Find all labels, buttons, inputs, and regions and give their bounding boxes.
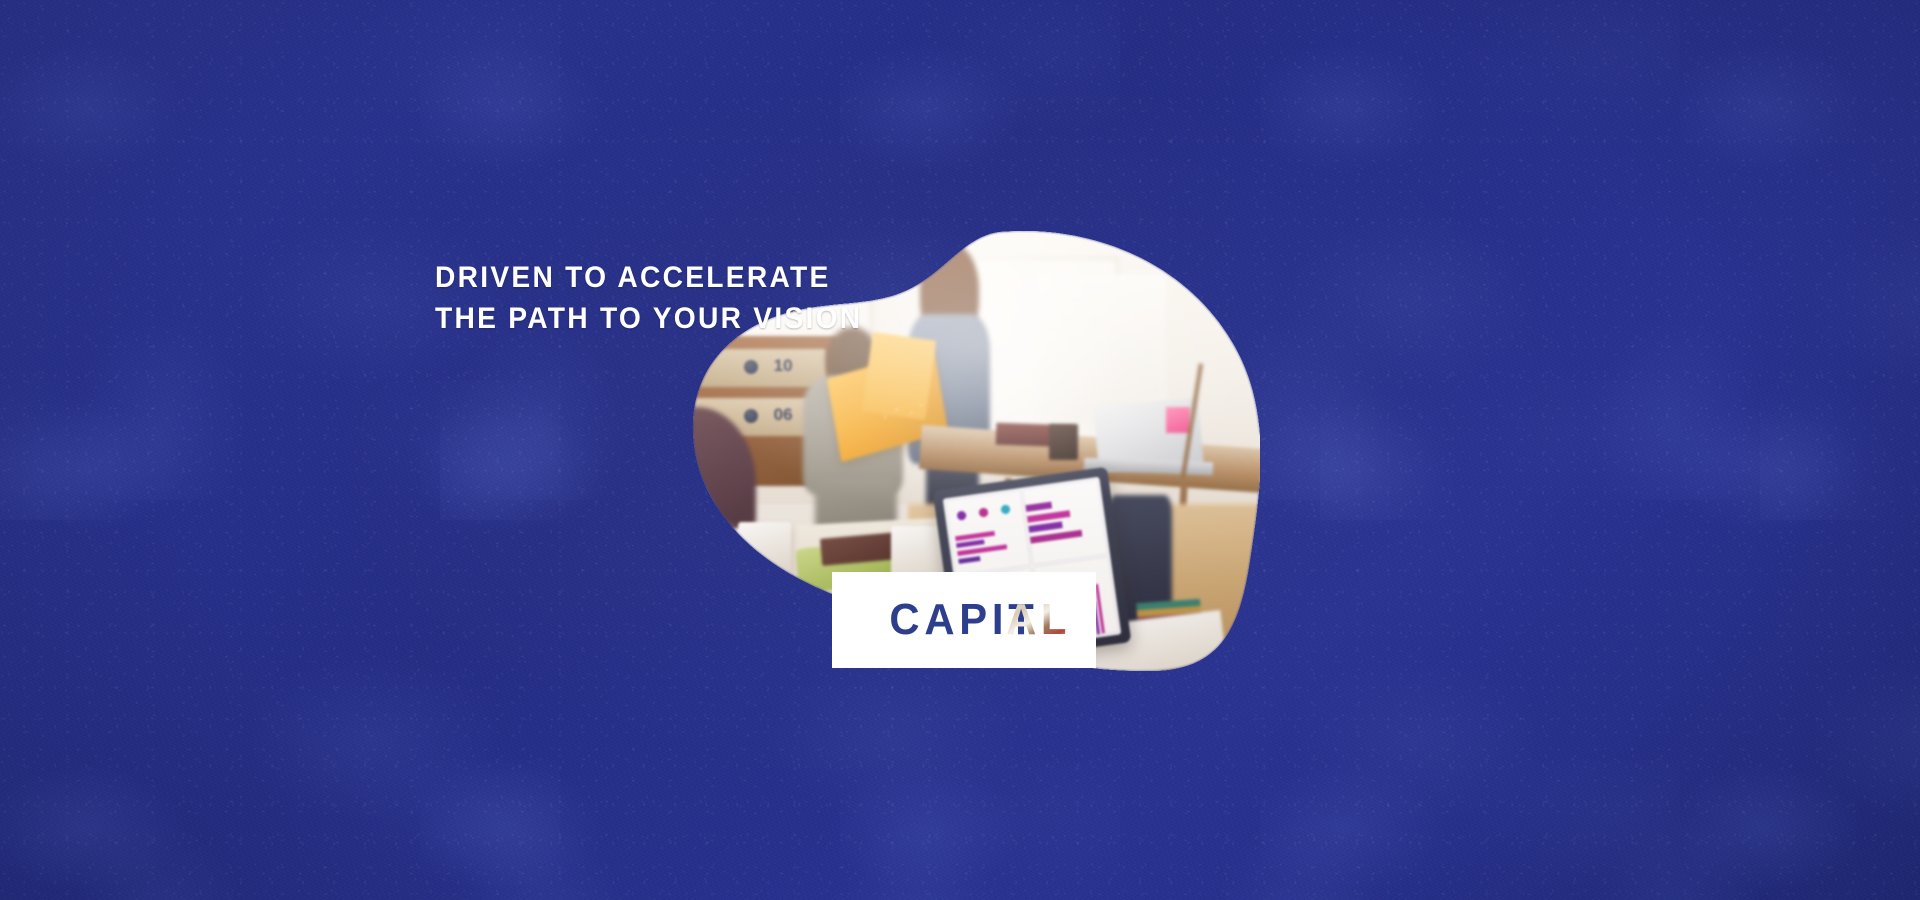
- chart-panel-pies: [944, 489, 1030, 575]
- capital-logo-text: CAPITCAPITAL: [839, 572, 1090, 668]
- banner-stage: DRIVEN TO ACCELERATE THE PATH TO YOUR VI…: [0, 0, 1920, 900]
- drawer-number-upper: 10: [774, 356, 793, 376]
- headline-line-1: DRIVEN TO ACCELERATE: [435, 257, 867, 298]
- capital-logo-solid-letters: CAPIT: [889, 595, 1038, 645]
- drawer-number-lower: 06: [774, 405, 793, 425]
- pink-sticky-note: [1166, 407, 1189, 434]
- capital-logo-plate: CAPITCAPITAL CAPITAL: [832, 572, 1096, 668]
- headline-line-2: THE PATH TO YOUR VISION: [435, 298, 867, 339]
- pen-cup: [1049, 424, 1078, 459]
- headline: DRIVEN TO ACCELERATE THE PATH TO YOUR VI…: [435, 257, 895, 339]
- chart-panel-horizontal-bars: [1022, 478, 1108, 564]
